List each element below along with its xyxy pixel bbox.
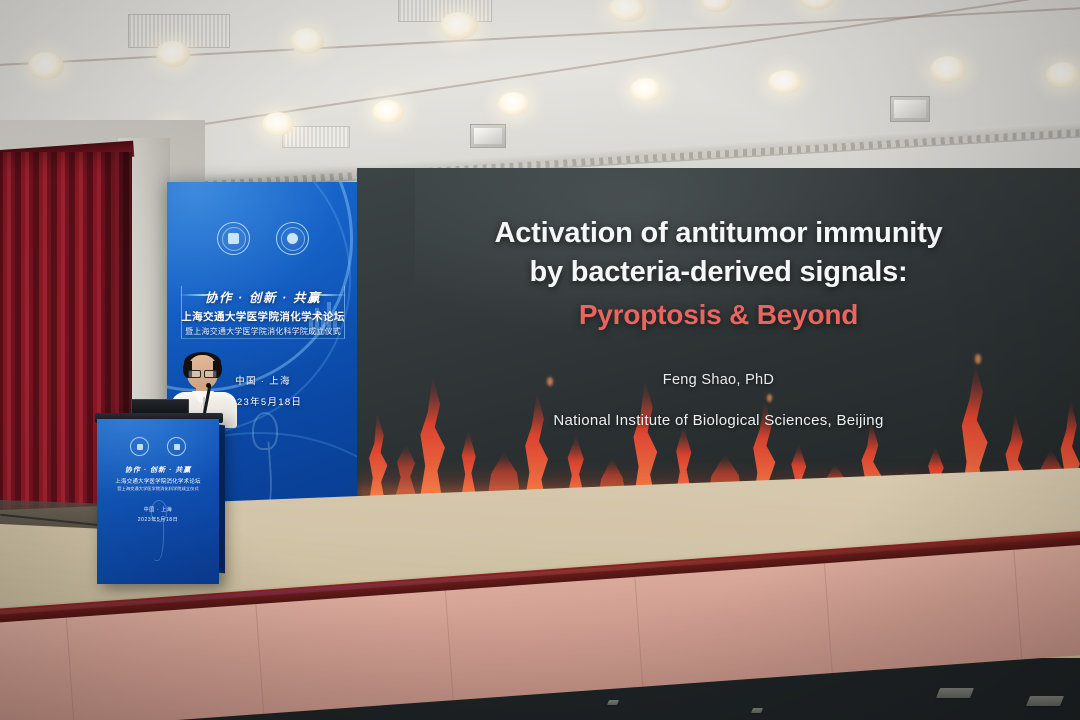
seal-emblem: [287, 233, 298, 244]
stage-panel-seam: [634, 577, 643, 687]
projection-screen: Activation of antitumor immunity by bact…: [357, 168, 1080, 498]
ceiling-downlight: [156, 41, 190, 67]
slide-subtitle: Pyroptosis & Beyond: [357, 296, 1080, 334]
ceiling-spotlight-box: [470, 124, 506, 148]
ceiling-downlight: [498, 92, 530, 116]
ceiling-downlight: [262, 112, 294, 136]
ceiling-downlight: [930, 56, 966, 83]
stage-panel-seam: [824, 563, 833, 673]
seal-emblem: [228, 233, 239, 244]
podium-logo-row: [97, 437, 219, 456]
ceiling-downlight: [28, 52, 64, 80]
flame-ember: [767, 394, 772, 402]
stage-panel-seam: [445, 590, 454, 700]
ceiling-downlight: [440, 12, 478, 40]
slide-author: Feng Shao, PhD: [357, 372, 1080, 388]
stage-floor-plate: [1026, 696, 1064, 706]
institute-seal-icon: [167, 437, 186, 456]
slide-flame-graphic: [357, 323, 1080, 498]
stage-panel-seam: [1013, 550, 1022, 660]
eyeglasses-icon: [188, 370, 217, 376]
conference-hall-photo: 协作 · 创新 · 共赢 上海交通大学医学院消化学术论坛 暨上海交通大学医学院消…: [0, 0, 1080, 720]
banner-forum-subtitle: 暨上海交通大学医学院消化科学院成立仪式: [167, 326, 359, 339]
banner-text-block: 协作 · 创新 · 共赢 上海交通大学医学院消化学术论坛 暨上海交通大学医学院消…: [167, 287, 359, 339]
podium-forum-subtitle: 暨上海交通大学医学院消化科学院成立仪式: [97, 486, 219, 492]
stage-panel-seam: [66, 618, 75, 720]
podium-slogan: 协作 · 创新 · 共赢: [97, 465, 219, 475]
seal-emblem: [137, 444, 143, 450]
ceiling-downlight: [700, 0, 732, 12]
seal-emblem: [174, 444, 180, 450]
ceiling-downlight: [372, 100, 404, 124]
stage-floor-plate: [936, 688, 974, 698]
ceiling-downlight: [630, 78, 662, 102]
institute-seal-icon: [276, 222, 309, 255]
microphone-icon: [206, 383, 211, 388]
stage-floor-plate: [607, 700, 619, 705]
ceiling-downlight: [608, 0, 646, 22]
slide-title-line1: Activation of antitumor immunity: [357, 214, 1080, 253]
banner-forum-title: 上海交通大学医学院消化学术论坛: [167, 310, 359, 326]
banner-slogan: 协作 · 创新 · 共赢: [167, 287, 359, 306]
university-seal-icon: [130, 437, 149, 456]
flame-ember: [975, 354, 981, 364]
ceiling-downlight: [768, 70, 802, 94]
slide-affiliation: National Institute of Biological Science…: [357, 412, 1080, 429]
podium-forum-title: 上海交通大学医学院消化学术论坛: [97, 477, 219, 485]
ceiling-downlight: [1046, 62, 1080, 88]
slide-title-line2: by bacteria-derived signals:: [357, 253, 1080, 292]
ceiling-spotlight-box: [890, 96, 930, 122]
ceiling-downlight: [800, 0, 834, 10]
podium-mascot-graphic: [141, 500, 175, 570]
ceiling-downlight: [290, 28, 324, 54]
podium-text-block: 协作 · 创新 · 共赢 上海交通大学医学院消化学术论坛 暨上海交通大学医学院消…: [97, 465, 219, 492]
slide-title: Activation of antitumor immunity by bact…: [357, 214, 1080, 334]
university-seal-icon: [217, 222, 250, 255]
speaker-podium: 协作 · 创新 · 共赢 上海交通大学医学院消化学术论坛 暨上海交通大学医学院消…: [97, 419, 219, 584]
banner-logo-row: [167, 222, 359, 255]
stage-floor-plate: [751, 708, 763, 713]
stage-panel-seam: [255, 604, 264, 714]
